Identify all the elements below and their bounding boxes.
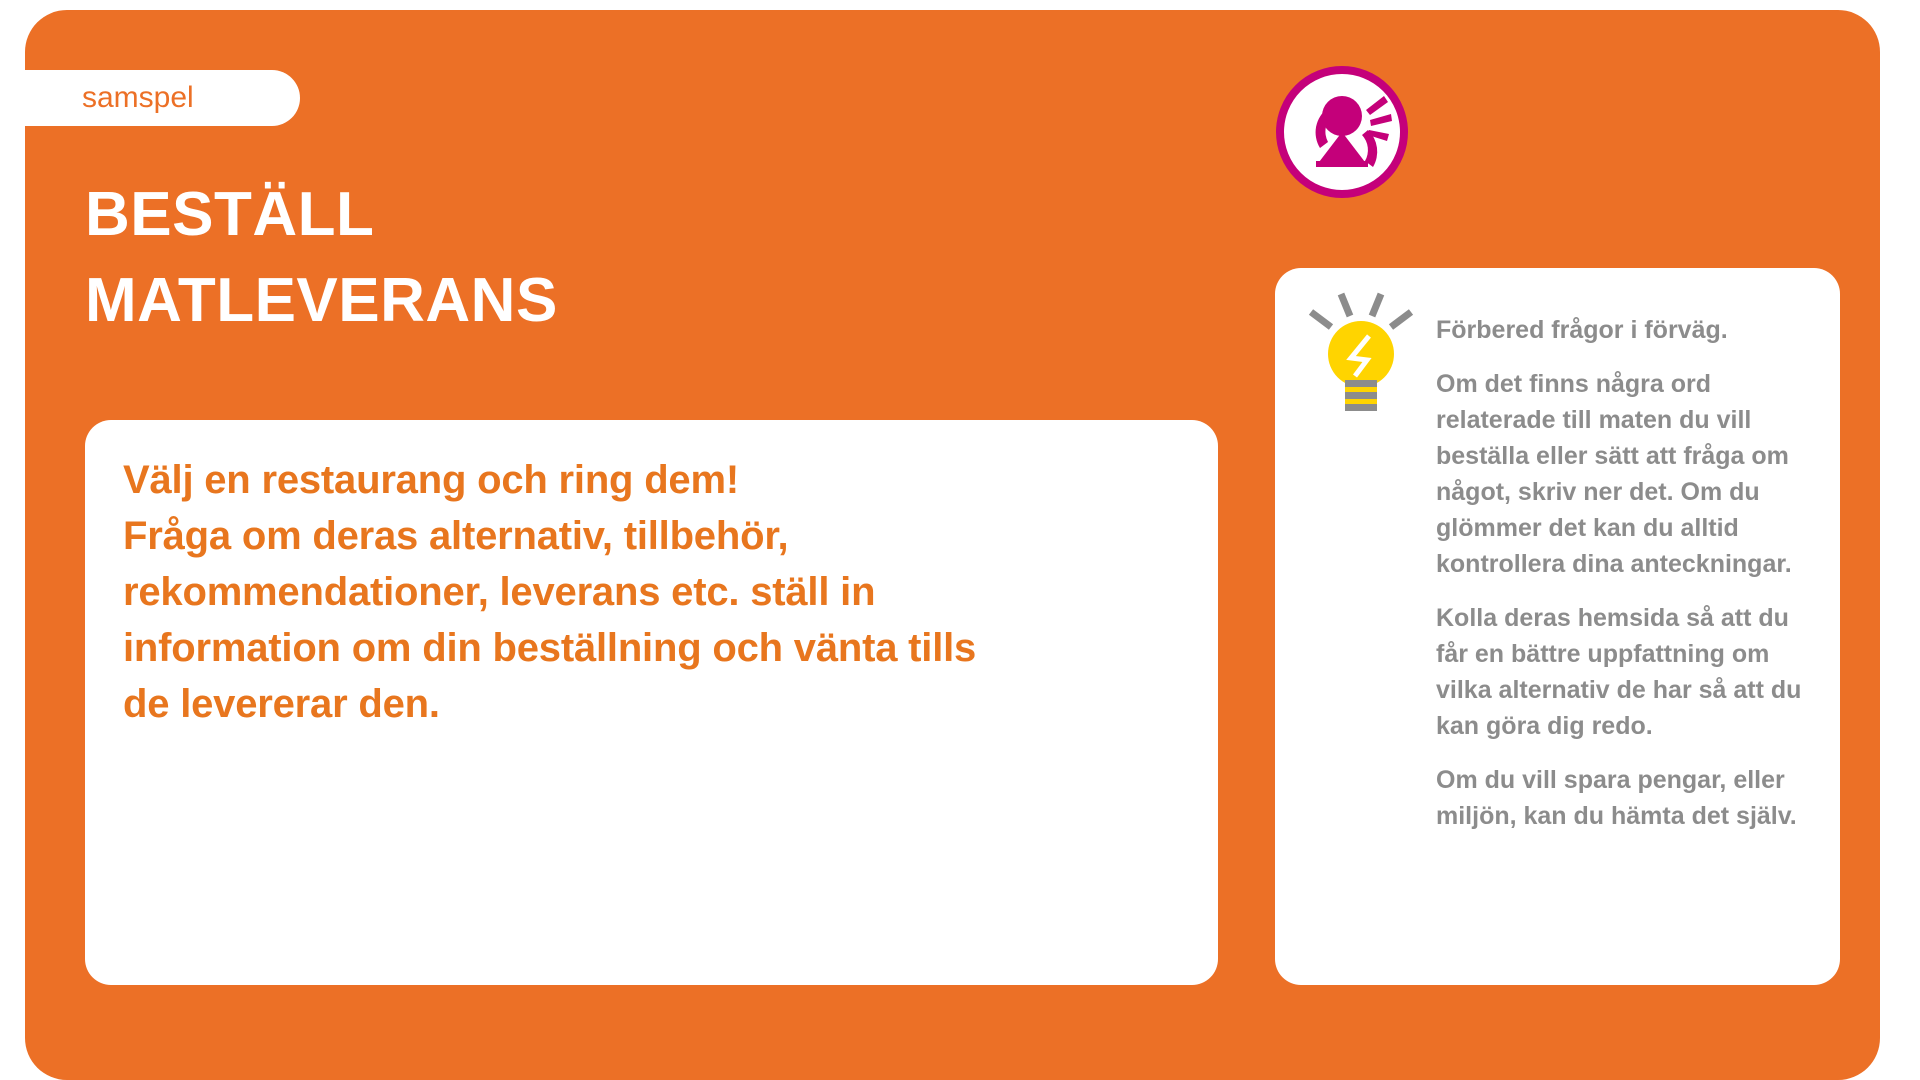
instruction-line: information om din beställning och vänta… (123, 620, 1184, 676)
instruction-line: rekommendationer, leverans etc. ställ in (123, 564, 1184, 620)
instruction-line: de levererar den. (123, 676, 1184, 732)
lightbulb-icon (1301, 284, 1421, 414)
tip-paragraph: Kolla deras hemsida så att du får en bät… (1436, 600, 1814, 744)
tip-paragraph: Om det finns några ord relaterade till m… (1436, 366, 1814, 582)
page-title-line-1: BESTÄLL (85, 172, 1085, 258)
tip-paragraph: Förbered frågor i förväg. (1436, 312, 1814, 348)
page-title-line-2: MATLEVERANS (85, 258, 1085, 344)
instruction-line: Välj en restaurang och ring dem! (123, 452, 1184, 508)
instruction-line: Fråga om deras alternativ, tillbehör, (123, 508, 1184, 564)
instruction-card: Välj en restaurang och ring dem! Fråga o… (85, 420, 1218, 985)
page-title: BESTÄLL MATLEVERANS (85, 172, 1085, 344)
instruction-card-body: Välj en restaurang och ring dem! Fråga o… (123, 452, 1184, 732)
person-speaking-badge-icon (1272, 62, 1412, 202)
tip-paragraph: Om du vill spara pengar, eller miljön, k… (1436, 762, 1814, 834)
slide-root: samspel BESTÄLL MATLEVERANS Välj en rest… (0, 0, 1920, 1080)
tips-text-block: Förbered frågor i förväg. Om det finns n… (1436, 312, 1814, 834)
brand-tab[interactable]: samspel (0, 70, 300, 126)
tips-card: Förbered frågor i förväg. Om det finns n… (1275, 268, 1840, 985)
brand-tab-label: samspel (82, 81, 194, 115)
